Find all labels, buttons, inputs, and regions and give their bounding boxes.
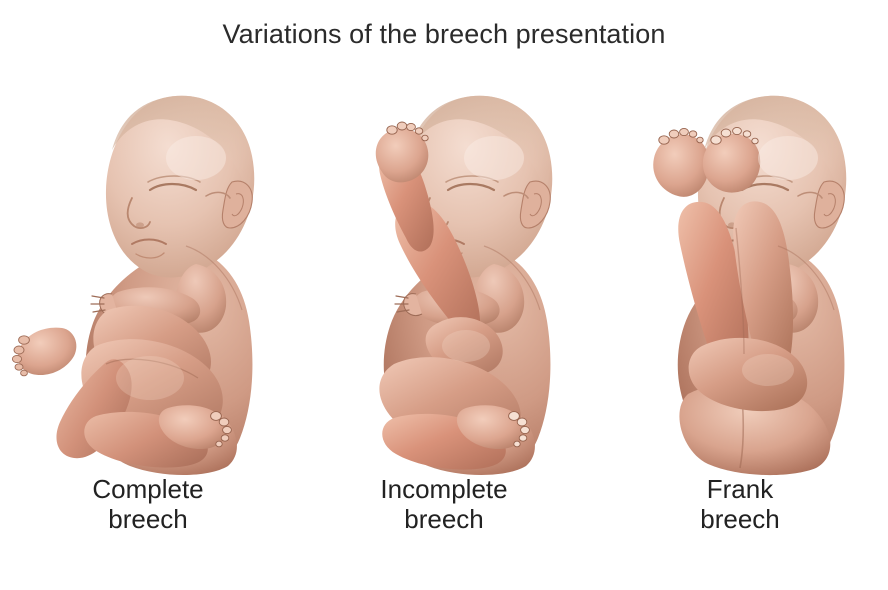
label-incomplete-breech: Incomplete breech [296,474,592,564]
fetus-foot-left [12,328,76,376]
label-line-1: Incomplete [296,474,592,504]
figure-complete-breech [0,78,296,478]
highlight-skull [464,136,524,180]
figure-incomplete-breech [296,78,592,478]
label-line-1: Complete [0,474,296,504]
label-line-2: breech [0,504,296,534]
label-line-2: breech [592,504,888,534]
fetus-nostril [136,222,144,227]
highlight-knee [442,330,490,362]
highlight-knee [116,356,184,400]
fetus-body-incomplete [376,96,553,475]
highlight-knee [742,354,794,386]
fetus-foot-raised [376,122,429,182]
fetus-body-complete [12,96,254,475]
figure-frank-breech [592,78,888,478]
highlight-skull [166,136,226,180]
illustration-page: Variations of the breech presentation [0,0,888,590]
label-line-2: breech [296,504,592,534]
figure-labels-row: Complete breech Incomplete breech Frank … [0,474,888,564]
breech-figures-row [0,78,888,478]
highlight-skull [758,136,818,180]
label-line-1: Frank [592,474,888,504]
fetus-body-frank [653,96,846,475]
fetus-foot-far [653,128,709,196]
label-frank-breech: Frank breech [592,474,888,564]
label-complete-breech: Complete breech [0,474,296,564]
page-title: Variations of the breech presentation [0,18,888,50]
